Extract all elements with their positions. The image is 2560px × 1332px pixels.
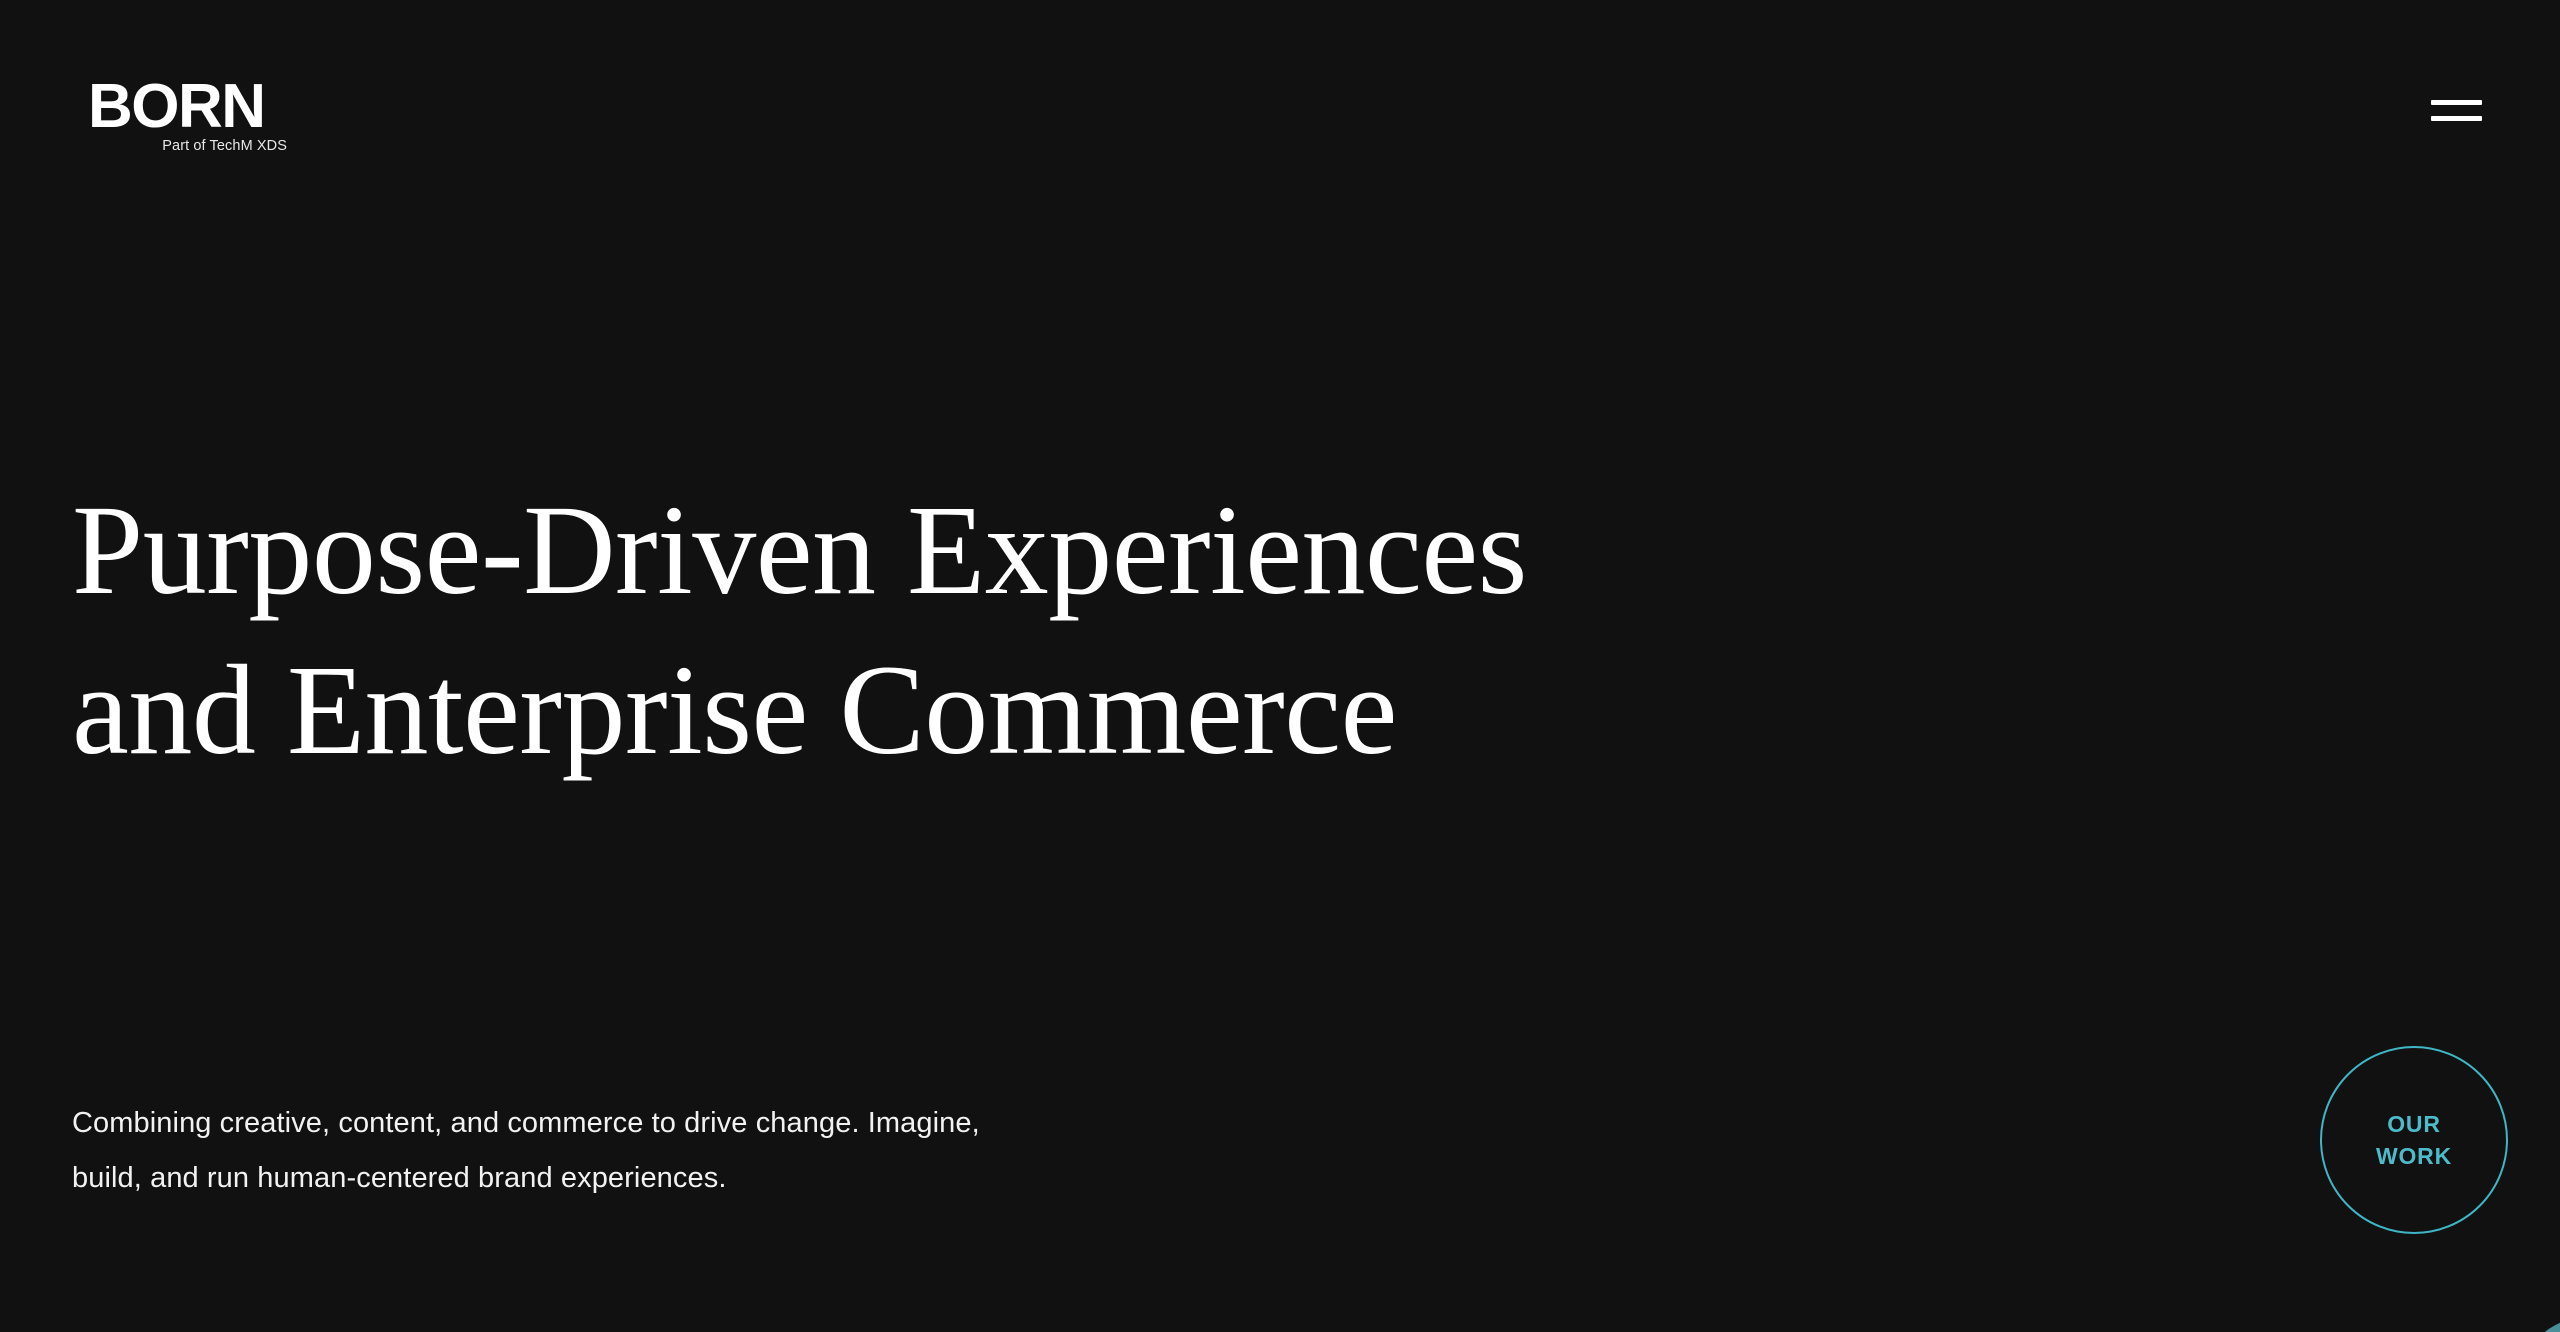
hero-description: Combining creative, content, and commerc… [72, 1096, 1212, 1206]
hamburger-menu-icon[interactable] [2412, 82, 2482, 138]
hamburger-bar-bottom [2431, 116, 2482, 121]
decorative-teal-circle [2516, 1316, 2560, 1332]
hero-description-line-2: build, and run human-centered brand expe… [72, 1151, 1212, 1206]
our-work-button[interactable]: OUR WORK [2320, 1046, 2508, 1234]
our-work-label-line-2: WORK [2376, 1140, 2452, 1172]
brand-logo[interactable]: BORN Part of TechM XDS [88, 78, 288, 155]
our-work-label-line-1: OUR [2387, 1108, 2441, 1140]
page-title: Purpose-Driven Experiences and Enterpris… [72, 470, 1872, 790]
hero-description-line-1: Combining creative, content, and commerc… [72, 1096, 1212, 1151]
page-title-line-2: and Enterprise Commerce [72, 630, 1872, 790]
hamburger-bar-top [2431, 100, 2482, 105]
logo-wordmark: BORN [88, 78, 288, 135]
site-header: BORN Part of TechM XDS [0, 0, 2560, 230]
page-title-line-1: Purpose-Driven Experiences [72, 470, 1872, 630]
page-root: BORN Part of TechM XDS Purpose-Driven Ex… [0, 0, 2560, 1332]
